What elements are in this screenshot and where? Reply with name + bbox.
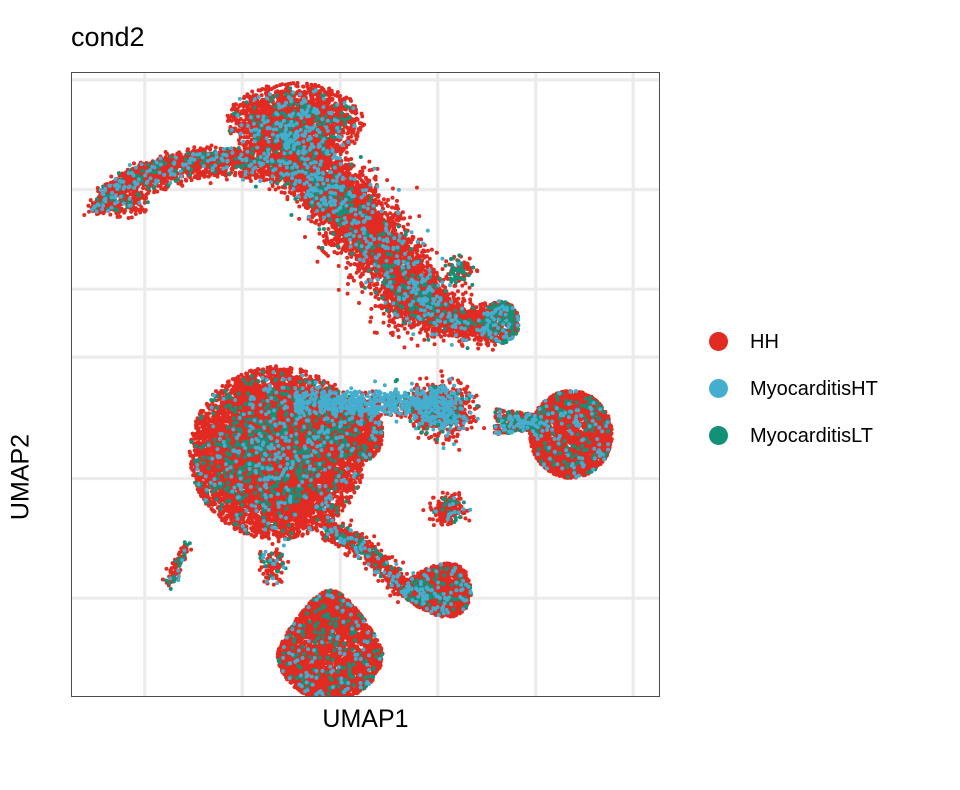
legend-label-hh: HH	[750, 330, 779, 354]
umap-plot: cond2 UMAP1 UMAP2 HH MyocarditisHT Myoca…	[0, 0, 960, 768]
legend-key-icon	[703, 412, 733, 459]
page-title: cond2	[71, 20, 145, 54]
scatter-points-layer	[72, 73, 659, 696]
legend-item-myocarditisht[interactable]: MyocarditisHT	[703, 365, 953, 412]
legend-key-icon	[703, 318, 733, 365]
legend-item-hh[interactable]: HH	[703, 318, 953, 365]
plot-panel[interactable]	[71, 72, 660, 697]
legend-dot-myocarditislt	[709, 426, 728, 445]
legend-dot-myocarditisht	[709, 379, 728, 398]
x-axis-title: UMAP1	[71, 703, 660, 735]
legend-key-icon	[703, 365, 733, 412]
legend: HH MyocarditisHT MyocarditisLT	[703, 318, 953, 459]
legend-item-myocarditislt[interactable]: MyocarditisLT	[703, 412, 953, 459]
legend-dot-hh	[709, 332, 728, 351]
legend-label-myocarditislt: MyocarditisLT	[750, 424, 873, 448]
y-axis-title: UMAP2	[1, 165, 41, 790]
legend-label-myocarditisht: MyocarditisHT	[750, 377, 878, 401]
